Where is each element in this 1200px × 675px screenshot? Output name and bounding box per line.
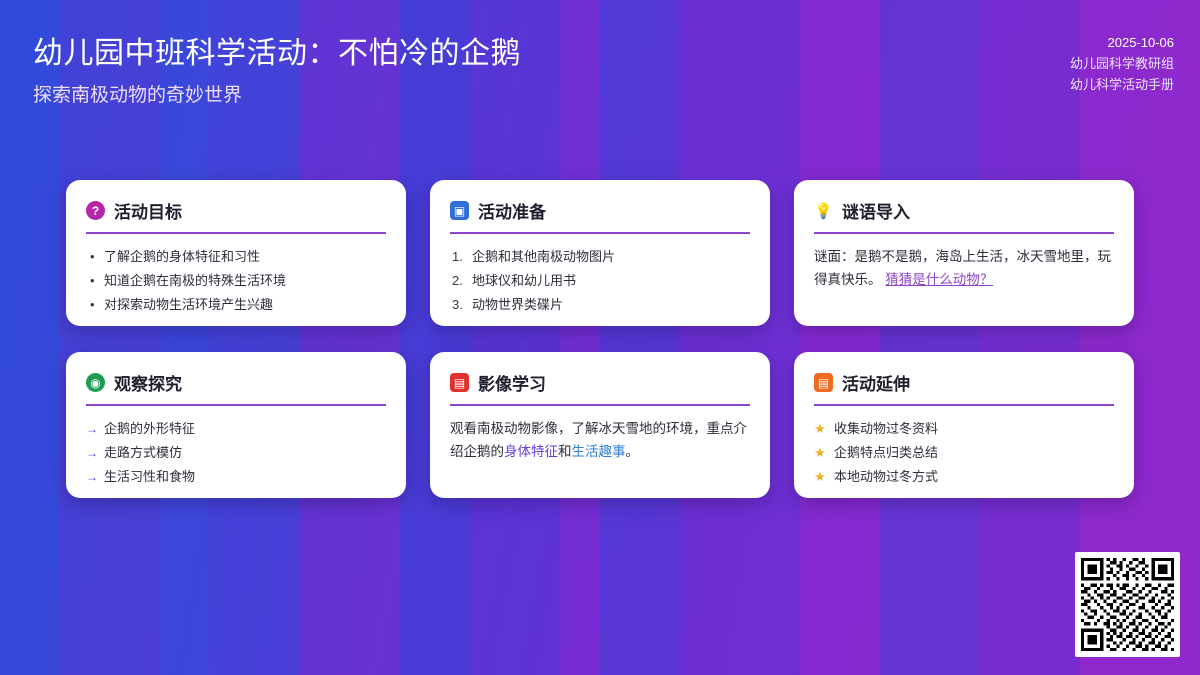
card-header: 💡 谜语导入 xyxy=(814,198,1114,234)
card-header: ◉ 观察探究 xyxy=(86,370,386,406)
card-activity-goals: ? 活动目标 了解企鹅的身体特征和习性 知道企鹅在南极的特殊生活环境 对探索动物… xyxy=(66,180,406,326)
goal-list: 了解企鹅的身体特征和习性 知道企鹅在南极的特殊生活环境 对探索动物生活环境产生兴… xyxy=(86,245,386,317)
page-title: 幼儿园中班科学活动：不怕冷的企鹅 xyxy=(33,28,521,72)
cards-grid: ? 活动目标 了解企鹅的身体特征和习性 知道企鹅在南极的特殊生活环境 对探索动物… xyxy=(66,180,1134,498)
preparation-list: 企鹅和其他南极动物图片 地球仪和幼儿用书 动物世界类碟片 xyxy=(450,245,750,317)
card-title: 谜语导入 xyxy=(842,198,910,223)
list-icon: ▤ xyxy=(814,373,833,392)
slide-header: 幼儿园中班科学活动：不怕冷的企鹅 探索南极动物的奇妙世界 2025-10-06 … xyxy=(0,0,1200,140)
list-item: 收集动物过冬资料 xyxy=(814,417,1114,441)
text-segment: 。 xyxy=(626,444,640,459)
highlight-life-stories: 生活趣事 xyxy=(572,444,626,459)
list-item: 生活习性和食物 xyxy=(86,465,386,489)
meta-doc: 幼儿科学活动手册 xyxy=(1070,74,1174,95)
card-video-learning: ▤ 影像学习 观看南极动物影像，了解冰天雪地的环境，重点介绍企鹅的身体特征和生活… xyxy=(430,352,770,498)
extension-list: 收集动物过冬资料 企鹅特点归类总结 本地动物过冬方式 xyxy=(814,417,1114,489)
card-header: ▤ 影像学习 xyxy=(450,370,750,406)
film-icon: ▤ xyxy=(450,373,469,392)
card-header: ? 活动目标 xyxy=(86,198,386,234)
video-text: 观看南极动物影像，了解冰天雪地的环境，重点介绍企鹅的身体特征和生活趣事。 xyxy=(450,417,750,463)
card-title: 观察探究 xyxy=(114,370,182,395)
card-title: 活动延伸 xyxy=(842,370,910,395)
lightbulb-icon: 💡 xyxy=(814,201,833,220)
question-mark-icon: ? xyxy=(86,201,105,220)
card-activity-extension: ▤ 活动延伸 收集动物过冬资料 企鹅特点归类总结 本地动物过冬方式 xyxy=(794,352,1134,498)
card-observation-inquiry: ◉ 观察探究 企鹅的外形特征 走路方式模仿 生活习性和食物 xyxy=(66,352,406,498)
list-item: 了解企鹅的身体特征和习性 xyxy=(86,245,386,269)
eye-icon: ◉ xyxy=(86,373,105,392)
inquiry-list: 企鹅的外形特征 走路方式模仿 生活习性和食物 xyxy=(86,417,386,489)
card-activity-preparation: ▣ 活动准备 企鹅和其他南极动物图片 地球仪和幼儿用书 动物世界类碟片 xyxy=(430,180,770,326)
image-icon: ▣ xyxy=(450,201,469,220)
qr-code[interactable] xyxy=(1075,552,1180,657)
list-item: 知道企鹅在南极的特殊生活环境 xyxy=(86,269,386,293)
card-riddle-intro: 💡 谜语导入 谜面：是鹅不是鹅，海岛上生活，冰天雪地里，玩得真快乐。 猜猜是什么… xyxy=(794,180,1134,326)
list-item: 动物世界类碟片 xyxy=(450,293,750,317)
riddle-link[interactable]: 猜猜是什么动物？ xyxy=(885,272,993,287)
list-item: 本地动物过冬方式 xyxy=(814,465,1114,489)
list-item: 走路方式模仿 xyxy=(86,441,386,465)
card-title: 活动目标 xyxy=(114,198,182,223)
card-title: 活动准备 xyxy=(478,198,546,223)
riddle-text: 谜面：是鹅不是鹅，海岛上生活，冰天雪地里，玩得真快乐。 猜猜是什么动物？ xyxy=(814,245,1114,291)
list-item: 对探索动物生活环境产生兴趣 xyxy=(86,293,386,317)
header-meta: 2025-10-06 幼儿园科学教研组 幼儿科学活动手册 xyxy=(1070,32,1174,95)
qr-code-graphic xyxy=(1081,558,1174,651)
list-item: 企鹅和其他南极动物图片 xyxy=(450,245,750,269)
slide-root: 幼儿园中班科学活动：不怕冷的企鹅 探索南极动物的奇妙世界 2025-10-06 … xyxy=(0,0,1200,675)
list-item: 地球仪和幼儿用书 xyxy=(450,269,750,293)
list-item: 企鹅特点归类总结 xyxy=(814,441,1114,465)
meta-org: 幼儿园科学教研组 xyxy=(1070,53,1174,74)
card-title: 影像学习 xyxy=(478,370,546,395)
page-subtitle: 探索南极动物的奇妙世界 xyxy=(33,80,242,107)
card-header: ▣ 活动准备 xyxy=(450,198,750,234)
text-segment: 和 xyxy=(558,444,572,459)
meta-date: 2025-10-06 xyxy=(1070,32,1174,53)
list-item: 企鹅的外形特征 xyxy=(86,417,386,441)
highlight-body-features: 身体特征 xyxy=(504,444,558,459)
card-header: ▤ 活动延伸 xyxy=(814,370,1114,406)
